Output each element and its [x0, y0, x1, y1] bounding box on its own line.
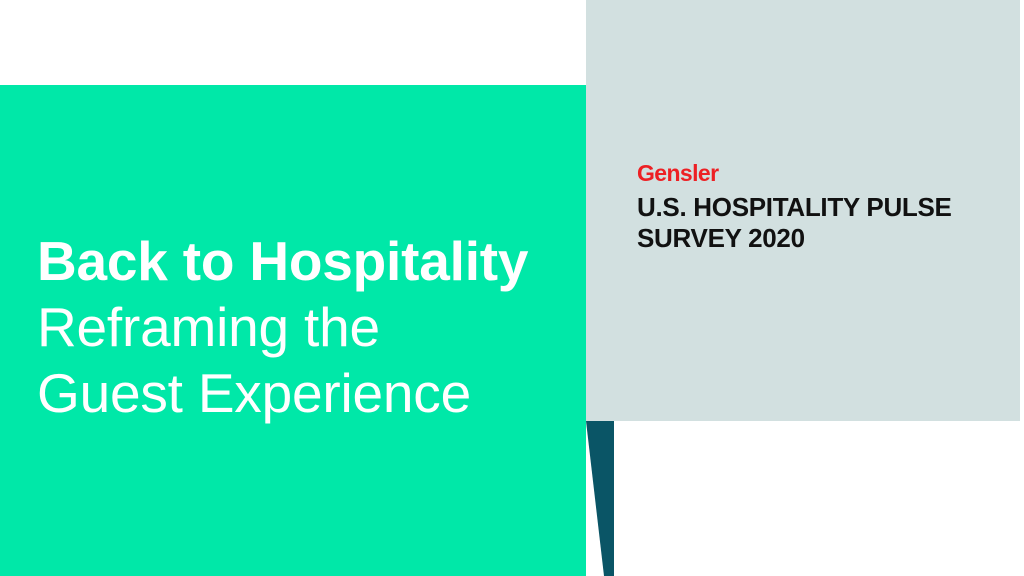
slide-title-line-3: Guest Experience	[37, 360, 577, 426]
report-identity-block: Gensler U.S. HOSPITALITY PULSE SURVEY 20…	[637, 160, 997, 254]
report-title-line-1: U.S. HOSPITALITY PULSE	[637, 192, 997, 223]
gensler-logo: Gensler	[637, 160, 997, 187]
slide-title-line-2: Reframing the	[37, 294, 577, 360]
slide-title-line-1: Back to Hospitality	[37, 228, 577, 294]
report-title-line-2: SURVEY 2020	[637, 223, 997, 254]
slide-title: Back to Hospitality Reframing the Guest …	[37, 228, 577, 426]
presentation-slide: Back to Hospitality Reframing the Guest …	[0, 0, 1024, 576]
